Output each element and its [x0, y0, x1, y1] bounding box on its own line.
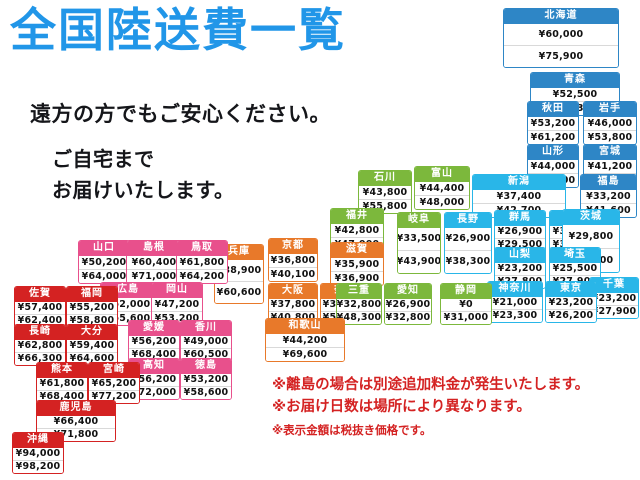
prefecture-name: 福井	[331, 209, 383, 224]
price-low: ¥47,200	[152, 298, 202, 311]
prefecture-box: 京都¥36,800¥40,100	[268, 238, 318, 282]
shipping-cost-chart: 全国陸送費一覧 遠方の方でもご安心ください。 ご自宅まで お届けいたします。 北…	[0, 0, 640, 480]
prefecture-name: 茨城	[563, 210, 619, 225]
prefecture-prices: ¥46,000¥53,800	[584, 117, 636, 145]
price-low: ¥37,800	[269, 299, 317, 311]
price-high: ¥23,300	[488, 309, 542, 322]
prefecture-box: 福岡¥55,200¥58,800	[66, 286, 118, 328]
prefecture-box: 宮崎¥65,200¥77,200	[88, 362, 140, 404]
prefecture-box: 愛知¥26,900¥32,800	[384, 283, 432, 325]
price-high: ¥58,600	[181, 386, 231, 399]
price-low: ¥57,400	[15, 302, 65, 314]
prefecture-name: 和歌山	[266, 319, 344, 334]
price-low: ¥23,200	[495, 263, 545, 275]
prefecture-name: 青森	[531, 73, 619, 88]
prefecture-name: 宮崎	[89, 363, 139, 378]
prefecture-name: 大分	[67, 325, 117, 340]
price-high: ¥27,900	[590, 305, 638, 318]
footnotes: ※離島の場合は別途追加料金が発生いたします。 ※お届け日数は場所により異なります…	[272, 374, 636, 439]
prefecture-name: 岩手	[584, 102, 636, 117]
prefecture-box: 愛媛¥56,200¥68,400	[128, 320, 180, 362]
subtitle-line-2: お届けいたします。	[52, 175, 235, 206]
prefecture-name: 三重	[337, 284, 381, 299]
prefecture-prices: ¥26,900¥32,800	[385, 299, 431, 325]
prefecture-name: 佐賀	[15, 287, 65, 302]
prefecture-name: 鹿児島	[37, 401, 115, 416]
prefecture-name: 新潟	[473, 175, 565, 190]
price-low: ¥26,900	[445, 228, 491, 250]
prefecture-box: 静岡¥0¥31,000	[440, 283, 492, 325]
price-high: ¥40,100	[269, 267, 317, 281]
prefecture-box: 群馬¥26,900¥29,500	[494, 210, 546, 252]
prefecture-name: 沖縄	[13, 433, 63, 448]
prefecture-prices: ¥61,800¥64,200	[177, 256, 227, 284]
price-low: ¥61,800	[37, 378, 87, 390]
prefecture-box: 佐賀¥57,400¥62,400	[14, 286, 66, 328]
price-low: ¥43,800	[359, 186, 411, 199]
prefecture-name: 長野	[445, 213, 491, 228]
prefecture-box: 神奈川¥21,000¥23,300	[487, 281, 543, 323]
price-high: ¥60,600	[215, 281, 263, 303]
prefecture-name: 福岡	[67, 287, 117, 302]
prefecture-name: 長崎	[15, 325, 65, 340]
price-low: ¥26,900	[495, 226, 545, 238]
subtitle-line-1: ご自宅まで	[52, 144, 235, 175]
price-high: ¥64,200	[177, 269, 227, 283]
prefecture-name: 滋賀	[331, 243, 383, 258]
price-low: ¥0	[441, 299, 491, 311]
price-low: ¥32,800	[337, 299, 381, 311]
price-low: ¥62,800	[15, 340, 65, 352]
prefecture-prices: ¥50,200¥64,000	[79, 256, 129, 284]
price-high: ¥31,000	[441, 311, 491, 324]
price-low: ¥44,000	[528, 160, 578, 173]
price-low: ¥35,900	[331, 258, 383, 271]
prefecture-name: 神奈川	[488, 282, 542, 297]
prefecture-box: 長野¥26,900¥38,300	[444, 212, 492, 274]
footnote-remote-islands: ※離島の場合は別途追加料金が発生いたします。	[272, 374, 636, 396]
prefecture-name: 北海道	[504, 9, 618, 24]
prefecture-box: 徳島¥53,200¥58,600	[180, 358, 232, 400]
prefecture-prices: ¥23,200¥26,200	[546, 297, 596, 323]
prefecture-name: 愛媛	[129, 321, 179, 336]
price-high: ¥71,000	[127, 269, 181, 283]
prefecture-name: 香川	[181, 321, 231, 336]
prefecture-prices: ¥44,200¥69,600	[266, 334, 344, 362]
prefecture-name: 富山	[415, 167, 469, 182]
price-low: ¥53,200	[528, 117, 578, 130]
price-high: ¥69,600	[266, 347, 344, 361]
price-low: ¥41,200	[584, 160, 636, 173]
prefecture-box: 熊本¥61,800¥68,400	[36, 362, 88, 404]
price-high: ¥61,200	[528, 130, 578, 144]
price-low: ¥44,200	[266, 334, 344, 347]
price-low: ¥29,800	[563, 225, 619, 248]
prefecture-name: 徳島	[181, 359, 231, 374]
price-low: ¥23,200	[590, 293, 638, 305]
price-high: ¥98,200	[13, 460, 63, 473]
price-low: ¥61,800	[177, 256, 227, 269]
prefecture-name: 山口	[79, 241, 129, 256]
prefecture-prices: ¥0¥31,000	[441, 299, 491, 325]
price-low: ¥52,500	[531, 88, 619, 101]
prefecture-name: 愛知	[385, 284, 431, 299]
prefecture-box: 長崎¥62,800¥66,300	[14, 324, 66, 366]
prefecture-box: 大分¥59,400¥64,600	[66, 324, 118, 366]
price-high: ¥32,800	[385, 311, 431, 324]
price-high: ¥53,800	[584, 130, 636, 144]
price-low: ¥36,800	[269, 254, 317, 267]
price-high: ¥38,300	[445, 250, 491, 273]
prefecture-name: 京都	[269, 239, 317, 254]
prefecture-box: 鳥取¥61,800¥64,200	[176, 240, 228, 284]
footnote-delivery-days: ※お届け日数は場所により異なります。	[272, 396, 636, 418]
prefecture-name: 熊本	[37, 363, 87, 378]
price-low: ¥42,800	[331, 224, 383, 237]
prefecture-prices: ¥94,000¥98,200	[13, 448, 63, 474]
prefecture-box: 山口¥50,200¥64,000	[78, 240, 130, 284]
price-low: ¥60,000	[504, 24, 618, 45]
prefecture-name: 岡山	[152, 283, 202, 298]
price-low: ¥46,000	[584, 117, 636, 130]
price-low: ¥59,400	[67, 340, 117, 352]
footnote-tax-excluded: ※表示金額は税抜き価格です。	[272, 421, 636, 439]
price-low: ¥37,400	[473, 190, 565, 203]
prefecture-name: 島根	[127, 241, 181, 256]
price-low: ¥25,500	[550, 263, 600, 275]
price-low: ¥33,500	[398, 228, 440, 250]
prefecture-prices: ¥53,200¥58,600	[181, 374, 231, 400]
prefecture-box: 滋賀¥35,900¥36,900	[330, 242, 384, 286]
page-title: 全国陸送費一覧	[10, 6, 480, 54]
prefecture-box: 島根¥60,400¥71,000	[126, 240, 182, 284]
price-low: ¥33,200	[581, 190, 636, 203]
prefecture-name: 山梨	[495, 248, 545, 263]
prefecture-prices: ¥35,900¥36,900	[331, 258, 383, 286]
prefecture-name: 大阪	[269, 284, 317, 299]
price-low: ¥94,000	[13, 448, 63, 460]
price-high: ¥75,900	[504, 45, 618, 67]
price-low: ¥49,000	[181, 336, 231, 348]
price-low: ¥23,200	[546, 297, 596, 309]
price-high: ¥43,900	[398, 250, 440, 273]
prefecture-box: 岐阜¥33,500¥43,900	[397, 212, 441, 274]
price-low: ¥50,200	[79, 256, 129, 269]
prefecture-prices: ¥53,200¥61,200	[528, 117, 578, 145]
prefecture-name: 群馬	[495, 211, 545, 226]
prefecture-prices: ¥36,800¥40,100	[269, 254, 317, 282]
price-low: ¥56,200	[129, 336, 179, 348]
price-low: ¥53,200	[181, 374, 231, 386]
prefecture-name: 宮城	[584, 145, 636, 160]
prefecture-box: 富山¥44,400¥48,000	[414, 166, 470, 210]
prefecture-prices: ¥44,400¥48,000	[415, 182, 469, 210]
prefecture-prices: ¥33,500¥43,900	[398, 228, 440, 274]
prefecture-box: 和歌山¥44,200¥69,600	[265, 318, 345, 362]
prefecture-name: 石川	[359, 171, 411, 186]
prefecture-prices: ¥60,000¥75,900	[504, 24, 618, 68]
subtitle-secondary: ご自宅まで お届けいたします。	[52, 144, 235, 206]
prefecture-box: 香川¥49,000¥60,500	[180, 320, 232, 362]
prefecture-name: 静岡	[441, 284, 491, 299]
price-low: ¥44,400	[415, 182, 469, 195]
prefecture-prices: ¥23,200¥27,900	[590, 293, 638, 319]
prefecture-name: 東京	[546, 282, 596, 297]
prefecture-box: 北海道¥60,000¥75,900	[503, 8, 619, 68]
prefecture-name: 山形	[528, 145, 578, 160]
prefecture-box: 岩手¥46,000¥53,800	[583, 101, 637, 145]
prefecture-box: 東京¥23,200¥26,200	[545, 281, 597, 323]
price-low: ¥66,400	[37, 416, 115, 428]
price-high: ¥26,200	[546, 309, 596, 322]
prefecture-prices: ¥21,000¥23,300	[488, 297, 542, 323]
prefecture-box: 沖縄¥94,000¥98,200	[12, 432, 64, 474]
price-high: ¥64,000	[79, 269, 129, 283]
price-low: ¥60,400	[127, 256, 181, 269]
price-low: ¥26,900	[385, 299, 431, 311]
prefecture-name: 岐阜	[398, 213, 440, 228]
price-low: ¥21,000	[488, 297, 542, 309]
prefecture-name: 埼玉	[550, 248, 600, 263]
price-low: ¥55,200	[67, 302, 117, 314]
price-high: ¥48,000	[415, 195, 469, 209]
subtitle-primary: 遠方の方でもご安心ください。	[30, 98, 331, 128]
price-low: ¥65,200	[89, 378, 139, 390]
prefecture-box: 秋田¥53,200¥61,200	[527, 101, 579, 145]
prefecture-name: 福島	[581, 175, 636, 190]
prefecture-name: 秋田	[528, 102, 578, 117]
prefecture-name: 鳥取	[177, 241, 227, 256]
prefecture-prices: ¥60,400¥71,000	[127, 256, 181, 284]
prefecture-name: 千葉	[590, 278, 638, 293]
prefecture-prices: ¥26,900¥38,300	[445, 228, 491, 274]
